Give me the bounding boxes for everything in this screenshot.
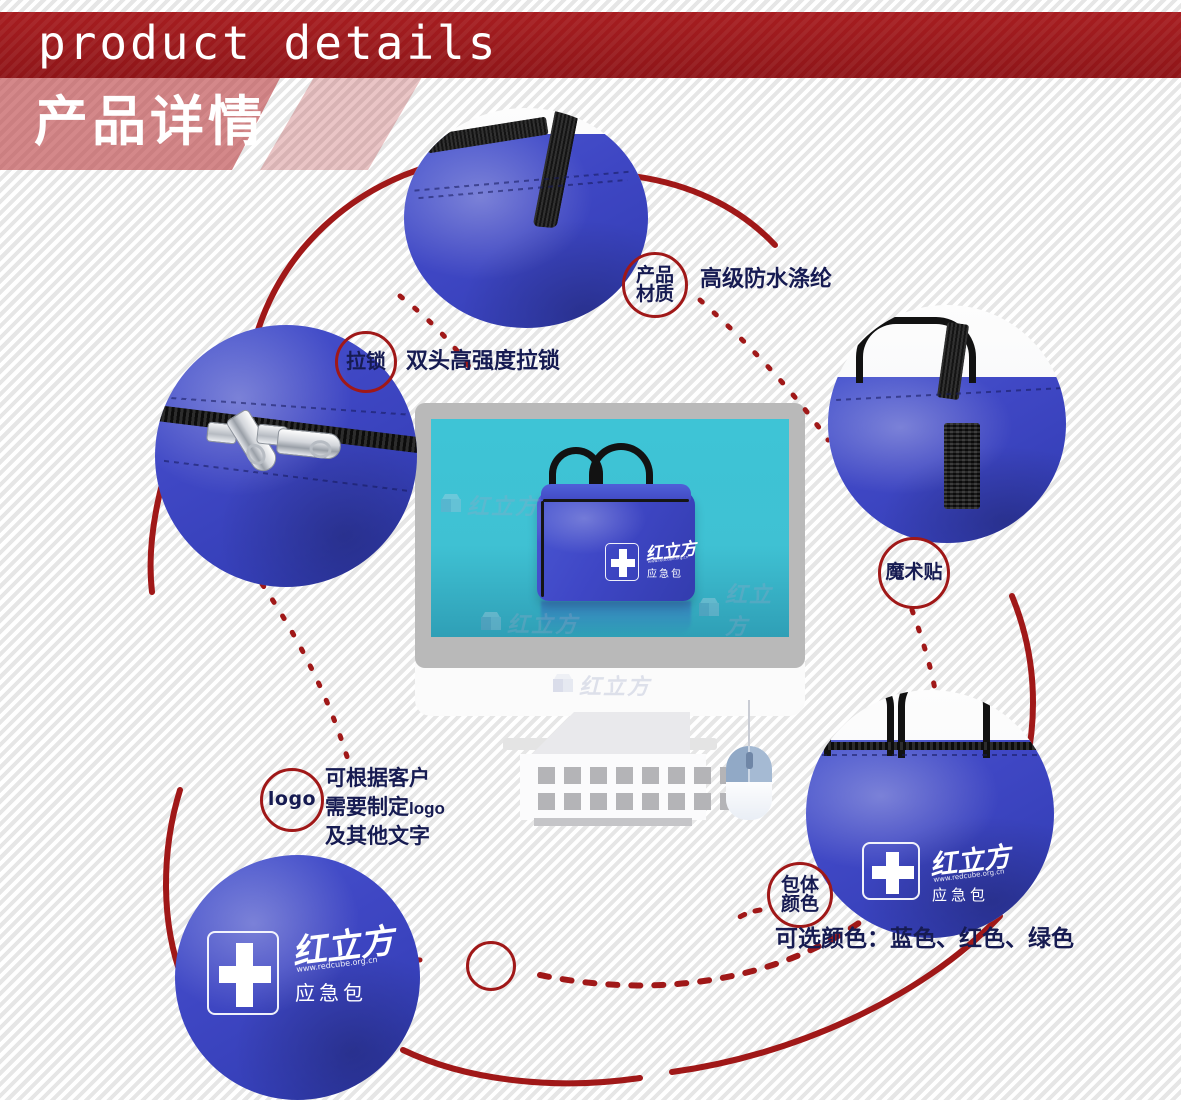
caption-logo: 可根据客户 需要制定logo 及其他文字 <box>325 765 445 852</box>
badge-logo: logo <box>260 768 324 832</box>
page-title-chinese: 产品详情 <box>34 88 266 156</box>
product-details-page: product details 产品详情 <box>0 0 1181 1100</box>
page-title-english: product details <box>38 16 498 70</box>
badge-line-2: 材质 <box>636 285 674 304</box>
decorative-node-circle <box>466 941 516 991</box>
caption-zipper: 双头高强度拉锁 <box>406 348 560 374</box>
caption-bag-color: 可选颜色：蓝色、红色、绿色 <box>775 925 1074 952</box>
caption-product-material: 高级防水涤纶 <box>700 266 832 292</box>
arc-bottom-left <box>403 1050 640 1083</box>
badge-line-1: 包体 <box>781 876 819 895</box>
caption-logo-line-2b: logo <box>409 799 445 818</box>
badge-line-1: 产品 <box>636 266 674 285</box>
badge-line-2: 颜色 <box>781 895 819 914</box>
badge-line-1: 拉锁 <box>346 352 386 372</box>
badge-line-1: 魔术贴 <box>885 563 942 582</box>
dashed-leader-color-short <box>732 910 760 922</box>
detail-photo-material <box>404 108 648 328</box>
velcro-patch <box>944 423 980 509</box>
detail-photo-velcro <box>828 305 1066 543</box>
caption-logo-line-1: 可根据客户 <box>325 765 445 794</box>
badge-bag-color: 包体 颜色 <box>767 862 833 928</box>
brand-category-text: 应急包 <box>932 884 989 905</box>
dashed-leader-material <box>700 300 828 440</box>
caption-logo-line-3: 及其他文字 <box>325 823 445 852</box>
detail-photo-bag-color: 红立方 www.redcube.org.cn 应急包 <box>806 690 1054 938</box>
caption-logo-line-2: 需要制定logo <box>325 794 445 823</box>
badge-product-material: 产品 材质 <box>622 252 688 318</box>
dashed-leader-zipper <box>262 584 348 760</box>
badge-zipper: 拉锁 <box>335 331 397 393</box>
caption-logo-line-2a: 需要制定 <box>325 796 409 819</box>
brand-category-text: 应急包 <box>295 977 367 1006</box>
detail-photo-logo: 红立方 www.redcube.org.cn 应急包 <box>175 855 420 1100</box>
badge-velcro: 魔术贴 <box>878 537 950 609</box>
badge-line-1: logo <box>268 790 316 809</box>
